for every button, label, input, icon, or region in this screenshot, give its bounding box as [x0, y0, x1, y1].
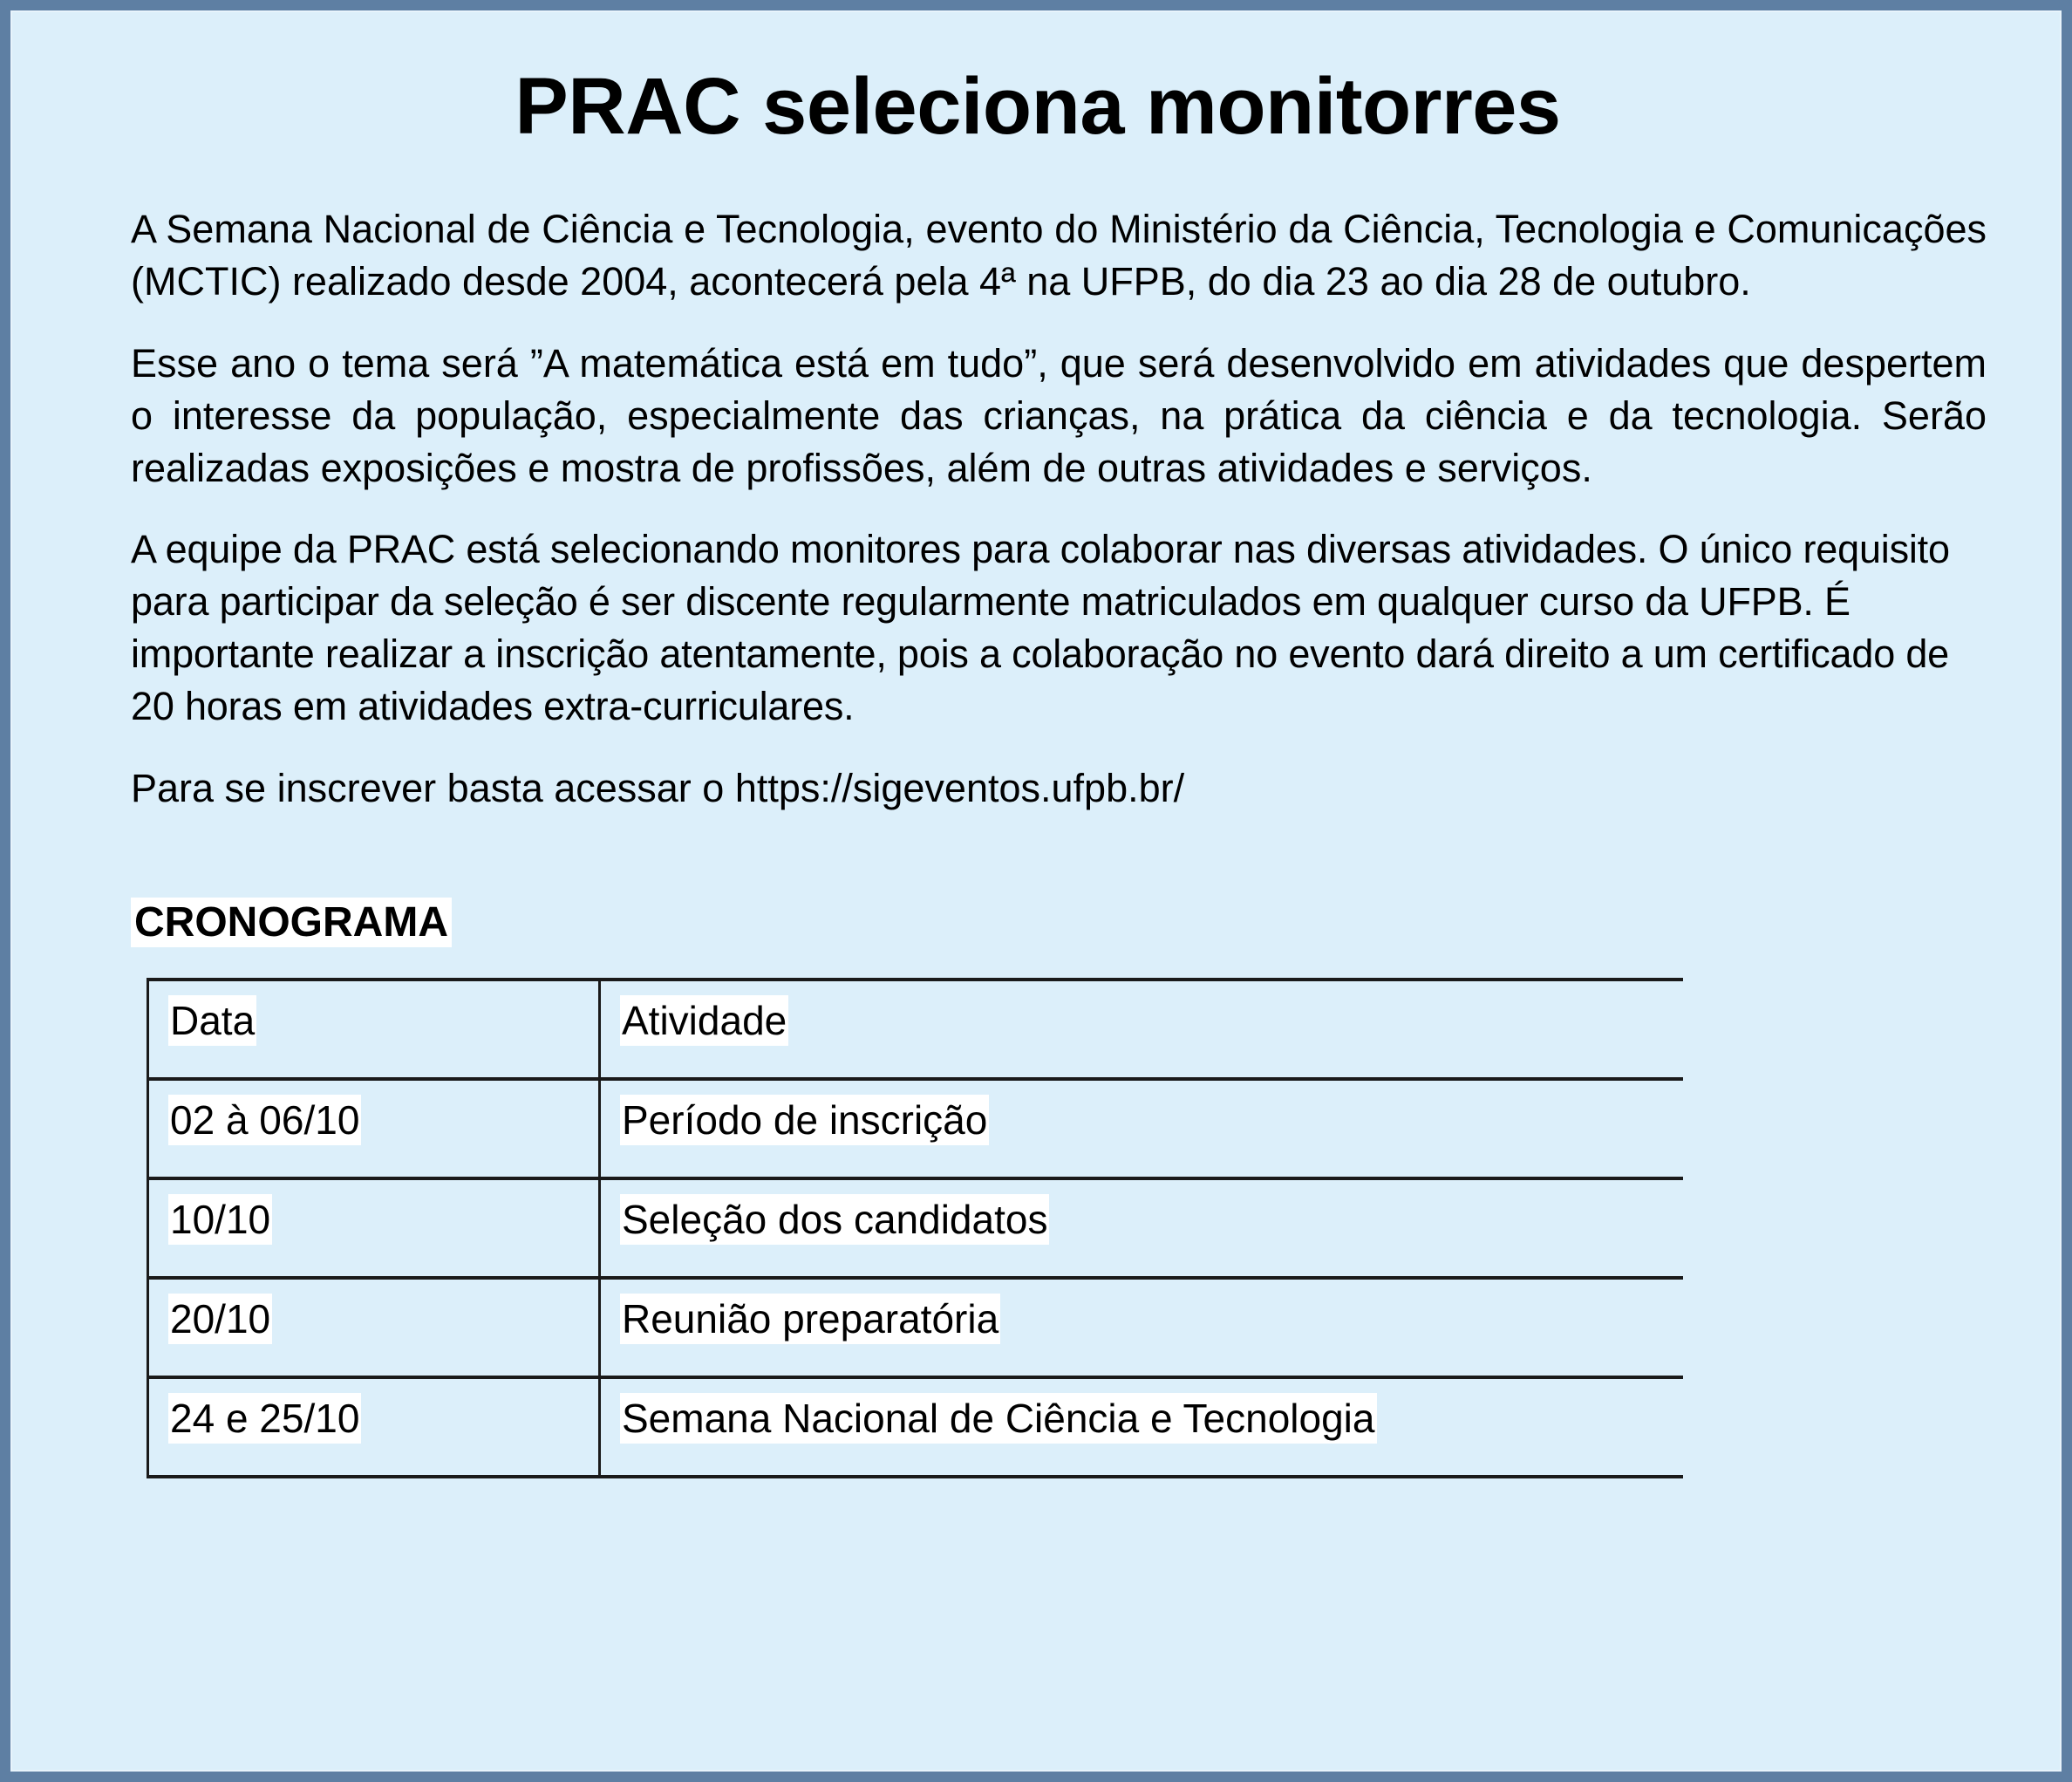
poster-frame: PRAC seleciona monitorres A Semana Nacio…: [0, 0, 2072, 1782]
column-header-atividade: Atividade: [600, 980, 1683, 1079]
cell-activity: Período de inscrição: [600, 1079, 1683, 1178]
schedule-table: Data Atividade 02 à 06/10 Período de ins…: [147, 978, 1683, 1478]
table-row: 02 à 06/10 Período de inscrição: [148, 1079, 1683, 1178]
paragraph-theme: Esse ano o tema será ”A matemática está …: [131, 338, 1987, 495]
cell-date: 24 e 25/10: [148, 1377, 600, 1477]
table-row: 10/10 Seleção dos candidatos: [148, 1178, 1683, 1278]
paragraph-registration-link: Para se inscrever basta acessar o https:…: [131, 762, 1987, 815]
paragraph-monitors: A equipe da PRAC está selecionando monit…: [131, 523, 1987, 732]
schedule-heading-label: CRONOGRAMA: [131, 898, 452, 947]
cell-date: 20/10: [148, 1278, 600, 1377]
cell-activity: Semana Nacional de Ciência e Tecnologia: [600, 1377, 1683, 1477]
page-title: PRAC seleciona monitorres: [131, 63, 1997, 151]
column-header-data: Data: [148, 980, 600, 1079]
table-row: 20/10 Reunião preparatória: [148, 1278, 1683, 1377]
table-header-row: Data Atividade: [148, 980, 1683, 1079]
cell-date: 10/10: [148, 1178, 600, 1278]
cell-date: 02 à 06/10: [148, 1079, 600, 1178]
poster-content: PRAC seleciona monitorres A Semana Nacio…: [131, 10, 1997, 1478]
table-row: 24 e 25/10 Semana Nacional de Ciência e …: [148, 1377, 1683, 1477]
cell-activity: Seleção dos candidatos: [600, 1178, 1683, 1278]
paragraph-intro: A Semana Nacional de Ciência e Tecnologi…: [131, 203, 1987, 308]
schedule-heading: CRONOGRAMA: [131, 898, 1997, 946]
cell-activity: Reunião preparatória: [600, 1278, 1683, 1377]
spacer: [131, 815, 1997, 898]
